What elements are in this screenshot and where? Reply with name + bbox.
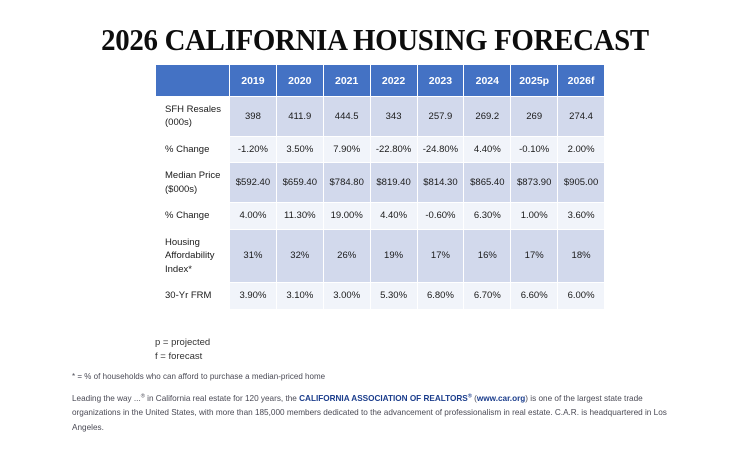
cell-frm-2025p: 6.60% xyxy=(511,283,558,309)
column-header-2023: 2023 xyxy=(417,65,464,97)
cell-hai-2024: 16% xyxy=(464,229,511,282)
cell-median-price-2026f: $905.00 xyxy=(558,163,605,203)
cell-sfh-resales-2019: 398 xyxy=(230,97,277,137)
cell-hai-2025p: 17% xyxy=(511,229,558,282)
legend-projected: p = projected xyxy=(155,336,210,350)
cell-frm-2021: 3.00% xyxy=(323,283,370,309)
cell-sfh-resales-2022: 343 xyxy=(370,97,417,137)
cell-hai-2021: 26% xyxy=(323,229,370,282)
cell-frm-2023: 6.80% xyxy=(417,283,464,309)
asterisk-footnote: * = % of households who can afford to pu… xyxy=(72,372,325,381)
row-label-price-pct-change: % Change xyxy=(156,203,230,229)
table-header: 2019 2020 2021 2022 2023 2024 2025p 2026… xyxy=(156,65,605,97)
table-header-row: 2019 2020 2021 2022 2023 2024 2025p 2026… xyxy=(156,65,605,97)
cell-price-change-2024: 6.30% xyxy=(464,203,511,229)
cell-price-change-2020: 11.30% xyxy=(276,203,323,229)
cell-median-price-2024: $865.40 xyxy=(464,163,511,203)
column-header-2022: 2022 xyxy=(370,65,417,97)
cell-price-change-2023: -0.60% xyxy=(417,203,464,229)
cell-sfh-resales-2020: 411.9 xyxy=(276,97,323,137)
cell-frm-2022: 5.30% xyxy=(370,283,417,309)
column-header-2026f: 2026f xyxy=(558,65,605,97)
cell-resales-change-2019: -1.20% xyxy=(230,136,277,162)
row-label-median-price: Median Price ($000s) xyxy=(156,163,230,203)
cell-resales-change-2026f: 2.00% xyxy=(558,136,605,162)
table-body: SFH Resales (000s) 398 411.9 444.5 343 2… xyxy=(156,97,605,310)
table-row: Housing Affordability Index* 31% 32% 26%… xyxy=(156,229,605,282)
cell-sfh-resales-2026f: 274.4 xyxy=(558,97,605,137)
row-label-sfh-resales: SFH Resales (000s) xyxy=(156,97,230,137)
page-title: 2026 CALIFORNIA HOUSING FORECAST xyxy=(26,22,724,58)
disclaimer-part-1: Leading the way ... xyxy=(72,394,141,403)
cell-median-price-2020: $659.40 xyxy=(276,163,323,203)
legend-forecast: f = forecast xyxy=(155,350,210,364)
legend-block: p = projected f = forecast xyxy=(155,336,210,365)
cell-resales-change-2020: 3.50% xyxy=(276,136,323,162)
cell-hai-2022: 19% xyxy=(370,229,417,282)
cell-median-price-2025p: $873.90 xyxy=(511,163,558,203)
cell-median-price-2022: $819.40 xyxy=(370,163,417,203)
column-header-2024: 2024 xyxy=(464,65,511,97)
table-row: Median Price ($000s) $592.40 $659.40 $78… xyxy=(156,163,605,203)
column-header-2025p: 2025p xyxy=(511,65,558,97)
cell-sfh-resales-2023: 257.9 xyxy=(417,97,464,137)
table-row: 30-Yr FRM 3.90% 3.10% 3.00% 5.30% 6.80% … xyxy=(156,283,605,309)
cell-hai-2026f: 18% xyxy=(558,229,605,282)
cell-median-price-2019: $592.40 xyxy=(230,163,277,203)
cell-median-price-2023: $814.30 xyxy=(417,163,464,203)
row-label-30-yr-frm: 30-Yr FRM xyxy=(156,283,230,309)
cell-sfh-resales-2025p: 269 xyxy=(511,97,558,137)
cell-hai-2023: 17% xyxy=(417,229,464,282)
row-label-resales-pct-change: % Change xyxy=(156,136,230,162)
cell-median-price-2021: $784.80 xyxy=(323,163,370,203)
cell-price-change-2025p: 1.00% xyxy=(511,203,558,229)
cell-resales-change-2023: -24.80% xyxy=(417,136,464,162)
column-header-2020: 2020 xyxy=(276,65,323,97)
column-header-2019: 2019 xyxy=(230,65,277,97)
column-header-2021: 2021 xyxy=(323,65,370,97)
cell-price-change-2019: 4.00% xyxy=(230,203,277,229)
cell-price-change-2026f: 3.60% xyxy=(558,203,605,229)
cell-price-change-2021: 19.00% xyxy=(323,203,370,229)
row-label-housing-affordability-index: Housing Affordability Index* xyxy=(156,229,230,282)
housing-forecast-table: 2019 2020 2021 2022 2023 2024 2025p 2026… xyxy=(155,64,605,310)
cell-frm-2024: 6.70% xyxy=(464,283,511,309)
cell-frm-2019: 3.90% xyxy=(230,283,277,309)
organization-name: CALIFORNIA ASSOCIATION OF REALTORS xyxy=(299,394,468,403)
table-row: % Change -1.20% 3.50% 7.90% -22.80% -24.… xyxy=(156,136,605,162)
table-row: SFH Resales (000s) 398 411.9 444.5 343 2… xyxy=(156,97,605,137)
cell-frm-2026f: 6.00% xyxy=(558,283,605,309)
cell-sfh-resales-2021: 444.5 xyxy=(323,97,370,137)
cell-sfh-resales-2024: 269.2 xyxy=(464,97,511,137)
table-corner-cell xyxy=(156,65,230,97)
website-url[interactable]: www.car.org xyxy=(477,394,525,403)
cell-resales-change-2025p: -0.10% xyxy=(511,136,558,162)
disclaimer-part-2: in California real estate for 120 years,… xyxy=(145,394,299,403)
cell-price-change-2022: 4.40% xyxy=(370,203,417,229)
disclaimer-text: Leading the way ...® in California real … xyxy=(72,392,684,435)
cell-resales-change-2022: -22.80% xyxy=(370,136,417,162)
cell-hai-2020: 32% xyxy=(276,229,323,282)
cell-hai-2019: 31% xyxy=(230,229,277,282)
table-row: % Change 4.00% 11.30% 19.00% 4.40% -0.60… xyxy=(156,203,605,229)
cell-resales-change-2021: 7.90% xyxy=(323,136,370,162)
cell-frm-2020: 3.10% xyxy=(276,283,323,309)
cell-resales-change-2024: 4.40% xyxy=(464,136,511,162)
